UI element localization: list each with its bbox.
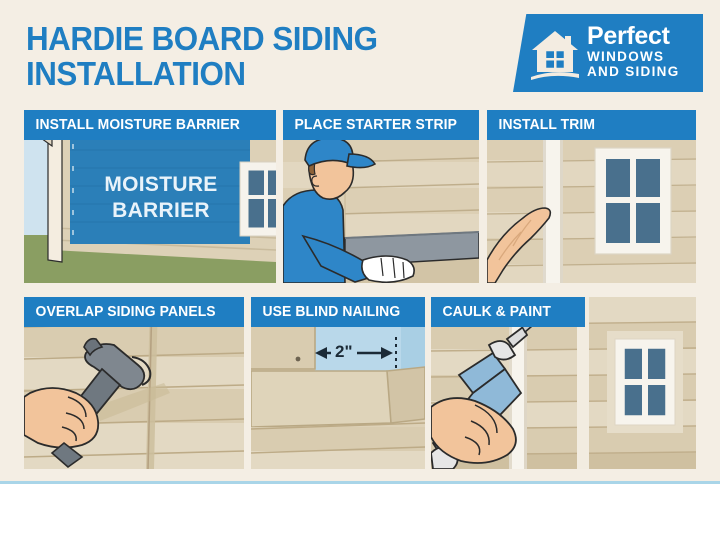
logo-word-siding: AND SIDING [587, 64, 697, 79]
logo-word-perfect: Perfect [587, 23, 697, 49]
infographic-root: HARDIE BOARD SIDING INSTALLATION Perfect… [0, 0, 720, 541]
panel-use-blind-nailing[interactable]: 2" USE BLIND NAILING [251, 297, 425, 469]
overlay-line-2: BARRIER [86, 198, 236, 224]
panel-header-label: OVERLAP SIDING PANELS [24, 304, 216, 320]
panel-header-label: INSTALL TRIM [487, 117, 595, 133]
panel-header-label: CAULK & PAINT [431, 304, 551, 320]
panel-header-moisture-barrier: INSTALL MOISTURE BARRIER [24, 110, 276, 140]
panel-header-overlap-siding: OVERLAP SIDING PANELS [24, 297, 244, 327]
panel-overlap-siding-panels[interactable]: OVERLAP SIDING PANELS [24, 297, 244, 469]
page-title-line-2: INSTALLATION [26, 56, 473, 91]
page-title-line-1: HARDIE BOARD SIDING [26, 21, 473, 56]
house-icon [529, 28, 581, 80]
panel-header-label: INSTALL MOISTURE BARRIER [24, 117, 240, 133]
brand-logo[interactable]: Perfect WINDOWS AND SIDING [513, 14, 703, 92]
overlay-line-1: MOISTURE [86, 172, 236, 198]
panel-header-label: USE BLIND NAILING [251, 304, 400, 320]
panel-install-trim[interactable]: INSTALL TRIM [487, 110, 696, 283]
panel-caulk-and-paint[interactable]: CAULK & PAINT [431, 297, 696, 469]
footer: Perfect Windows & Siding perfectwindowsa… [0, 484, 720, 541]
panel-header-caulk-and-paint: CAULK & PAINT [431, 297, 585, 327]
blind-nailing-measurement-label: 2" [331, 342, 357, 362]
page-title: HARDIE BOARD SIDING INSTALLATION [26, 21, 473, 91]
panel-place-starter-strip[interactable]: PLACE STARTER STRIP [283, 110, 479, 283]
panel-header-label: PLACE STARTER STRIP [283, 117, 457, 133]
header: HARDIE BOARD SIDING INSTALLATION Perfect… [0, 0, 720, 100]
moisture-barrier-overlay-text: MOISTURE BARRIER [86, 172, 236, 224]
panel-install-moisture-barrier[interactable]: INSTALL MOISTURE BARRIER MOISTURE BARRIE… [24, 110, 276, 283]
logo-wordmark: Perfect WINDOWS AND SIDING [587, 23, 697, 79]
panel-header-install-trim: INSTALL TRIM [487, 110, 696, 140]
panel-header-starter-strip: PLACE STARTER STRIP [283, 110, 479, 140]
panel-header-blind-nailing: USE BLIND NAILING [251, 297, 425, 327]
logo-word-windows: WINDOWS [587, 49, 697, 64]
